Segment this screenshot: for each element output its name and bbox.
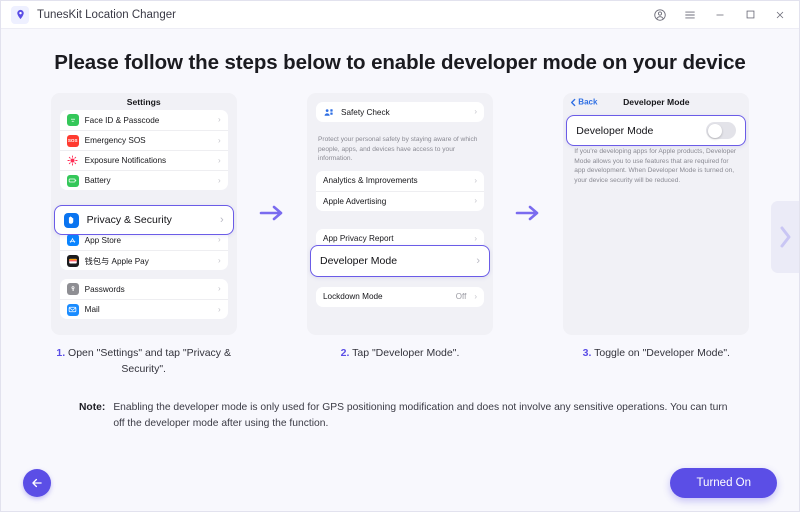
developer-mode-navbar: Back Developer Mode [563,93,749,111]
sos-icon: SOS [67,135,79,147]
step-text: Toggle on "Developer Mode". [594,347,730,359]
row-label: Passwords [85,285,212,294]
step-number: 2. [341,347,350,359]
highlight-label: Developer Mode [320,255,468,267]
arrow-1 [248,93,295,333]
step-number: 1. [56,347,65,359]
row-face-id[interactable]: Face ID & Passcode › [60,110,228,130]
settings-header: Settings [51,93,237,110]
developer-mode-blurb: If you're developing apps for Apple prod… [563,145,749,192]
back-label: Back [578,98,597,107]
window-title: TunesKit Location Changer [37,9,176,21]
chevron-right-icon: › [220,214,224,226]
step-1-caption: 1. Open "Settings" and tap "Privacy & Se… [39,346,248,378]
highlight-privacy-security[interactable]: Privacy & Security › [54,205,234,235]
chevron-right-icon: › [218,306,221,314]
step-1: Settings Face ID & Passcode › SOS Emerge… [39,93,248,378]
settings-group-bottom: Passwords › Mail › [60,279,228,319]
row-label: Mail [85,305,212,314]
row-passwords[interactable]: Passwords › [60,279,228,299]
safety-check-blurb: Protect your personal safety by staying … [307,131,493,171]
back-link[interactable]: Back [570,98,597,107]
step-number: 3. [583,347,592,359]
chevron-right-icon [778,226,792,248]
arrow-right-icon [259,204,285,222]
row-label: App Privacy Report [323,234,468,243]
chevron-left-icon [570,98,576,106]
row-label: Lockdown Mode [323,292,450,301]
row-battery[interactable]: Battery › [60,170,228,190]
wallet-icon [67,255,79,267]
maximize-button[interactable] [735,2,765,28]
row-label: Analytics & Improvements [323,176,468,185]
nav-title: Developer Mode [623,97,689,107]
hamburger-menu-icon[interactable] [675,2,705,28]
step-2-caption: 2. Tap "Developer Mode". [295,346,504,362]
close-button[interactable] [765,2,795,28]
exposure-notifications-icon [67,155,79,167]
row-label: Apple Advertising [323,197,468,206]
developer-mode-toggle[interactable] [706,122,736,139]
row-label: Safety Check [341,108,468,117]
highlight-label: Privacy & Security [87,214,212,226]
step-2: Safety Check › Protect your personal saf… [295,93,504,362]
step-text: Tap "Developer Mode". [352,347,459,359]
chevron-right-icon: › [474,197,477,205]
chevron-right-icon: › [218,177,221,185]
arrow-left-icon [30,476,44,490]
row-exposure-notifications[interactable]: Exposure Notifications › [60,150,228,170]
chevron-right-icon: › [218,116,221,124]
row-label: Exposure Notifications [85,156,212,165]
minimize-button[interactable] [705,2,735,28]
highlight-developer-mode-toggle[interactable]: Developer Mode [566,115,746,146]
app-store-icon [67,234,79,246]
turned-on-button[interactable]: Turned On [670,468,777,498]
row-label: 钱包与 Apple Pay [85,255,212,267]
location-pin-icon [11,6,29,24]
group-gap [307,220,493,229]
phone-panel-developer-mode: Back Developer Mode If you're developing… [563,93,749,335]
chevron-right-icon: › [476,255,480,267]
chevron-right-icon: › [218,137,221,145]
settings-group-mid: App Store › 钱包与 Apple Pay › [60,230,228,270]
highlight-label: Developer Mode [576,125,698,137]
row-safety-check[interactable]: Safety Check › [316,102,484,122]
chevron-right-icon: › [474,293,477,301]
row-lockdown-mode[interactable]: Lockdown Mode Off › [316,287,484,307]
row-label: Emergency SOS [85,136,212,145]
step-3-caption: 3. Toggle on "Developer Mode". [552,346,761,362]
app-window: TunesKit Location Changer Please follow … [0,0,800,512]
row-analytics-improvements[interactable]: Analytics & Improvements › [316,171,484,191]
page-title: Please follow the steps below to enable … [1,51,799,75]
phone-panel-privacy: Safety Check › Protect your personal saf… [307,93,493,335]
settings-group-top: Face ID & Passcode › SOS Emergency SOS ›… [60,110,228,190]
note-block: Note: Enabling the developer mode is onl… [79,400,733,433]
row-label: Battery [85,176,212,185]
privacy-group-2: Analytics & Improvements › Apple Adverti… [316,171,484,211]
back-button[interactable] [23,469,51,497]
row-apple-advertising[interactable]: Apple Advertising › [316,191,484,211]
row-label: App Store [85,236,212,245]
safety-check-group: Safety Check › [316,102,484,122]
next-page-tab[interactable] [771,201,799,273]
chevron-right-icon: › [218,285,221,293]
steps-row: Settings Face ID & Passcode › SOS Emerge… [1,93,799,378]
note-text: Enabling the developer mode is only used… [113,400,733,433]
chevron-right-icon: › [474,235,477,243]
chevron-right-icon: › [474,108,477,116]
passwords-key-icon [67,283,79,295]
highlight-developer-mode[interactable]: Developer Mode › [310,245,490,277]
chevron-right-icon: › [218,236,221,244]
row-label: Face ID & Passcode [85,116,212,125]
chevron-right-icon: › [474,177,477,185]
chevron-right-icon: › [218,157,221,165]
step-text: Open "Settings" and tap "Privacy & Secur… [68,347,231,375]
battery-icon [67,175,79,187]
row-mail[interactable]: Mail › [60,299,228,319]
safety-check-icon [323,106,335,118]
row-wallet-apple-pay[interactable]: 钱包与 Apple Pay › [60,250,228,270]
step-3: Back Developer Mode If you're developing… [552,93,761,362]
account-icon[interactable] [645,2,675,28]
app-brand: TunesKit Location Changer [11,6,176,24]
mail-icon [67,304,79,316]
privacy-hand-icon [64,213,79,228]
row-emergency-sos[interactable]: SOS Emergency SOS › [60,130,228,150]
title-bar: TunesKit Location Changer [1,1,799,29]
arrow-2 [505,93,552,333]
bottom-bar: Turned On [1,455,799,511]
chevron-right-icon: › [218,257,221,265]
lockdown-value: Off [456,292,467,301]
note-label: Note: [79,400,105,433]
toggle-knob [708,124,722,138]
panel-top-pad [307,93,493,102]
face-id-icon [67,114,79,126]
phone-panel-settings: Settings Face ID & Passcode › SOS Emerge… [51,93,237,335]
lockdown-group: Lockdown Mode Off › [316,287,484,307]
arrow-right-icon [515,204,541,222]
